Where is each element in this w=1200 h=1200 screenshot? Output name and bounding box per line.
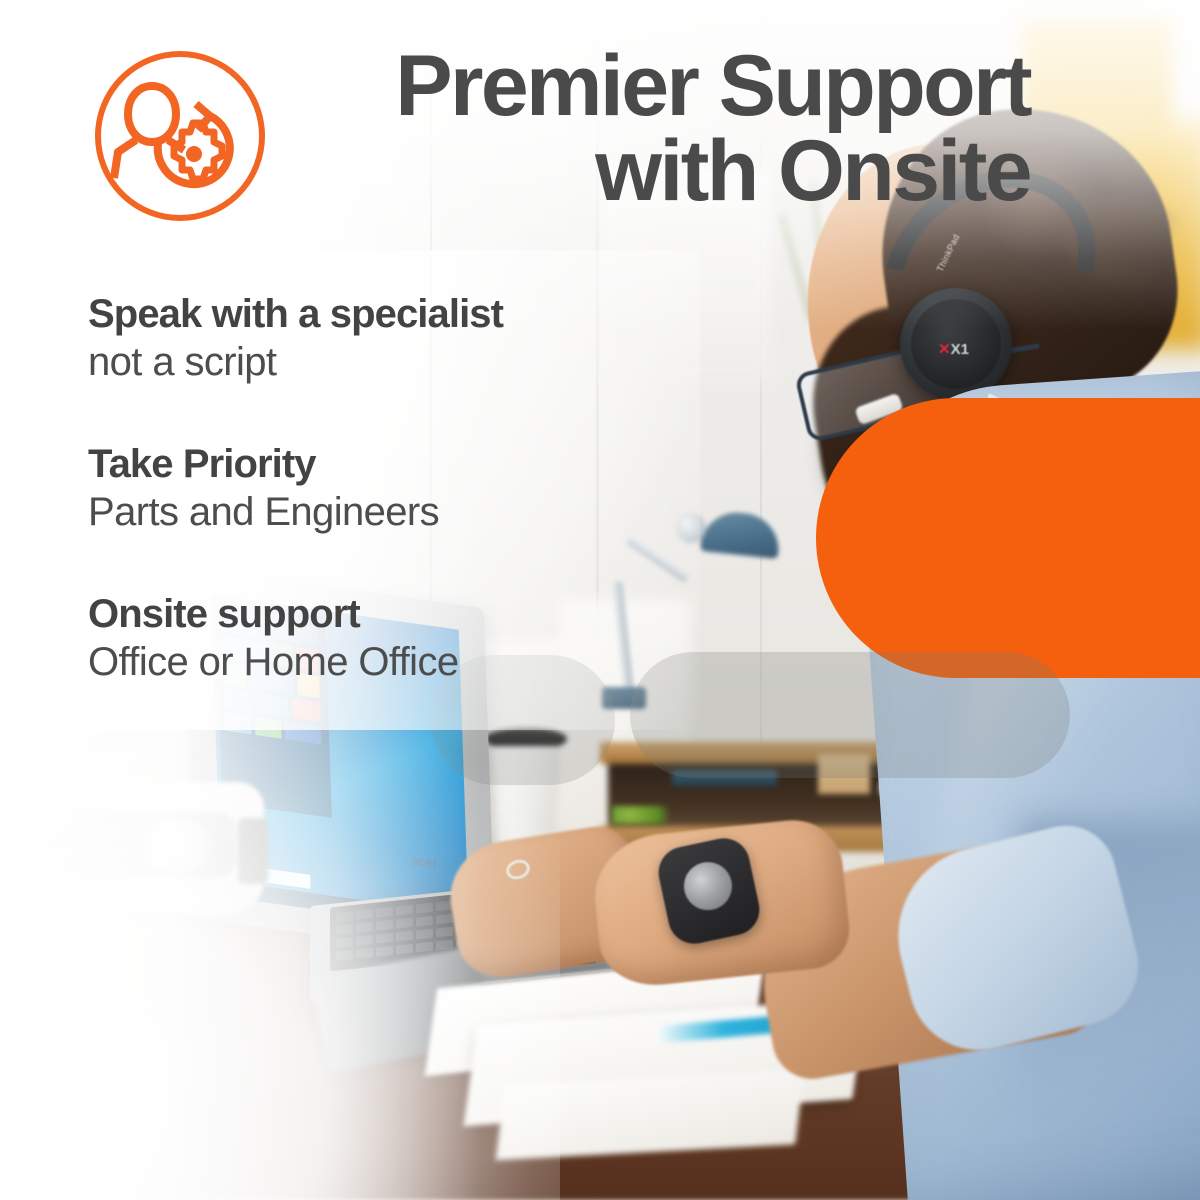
feature-title: Onsite support — [88, 592, 728, 637]
feature-list: Speak with a specialist not a script Tak… — [88, 292, 728, 686]
feature-subtitle: not a script — [88, 339, 728, 386]
feature-title: Take Priority — [88, 442, 728, 487]
premier-support-person-gear-refresh-icon — [92, 48, 268, 224]
feature-subtitle: Office or Home Office — [88, 639, 728, 686]
feature-item-onsite-support: Onsite support Office or Home Office — [88, 592, 728, 686]
premier-support-promo-poster: acer — [0, 0, 1200, 1200]
feature-item-take-priority: Take Priority Parts and Engineers — [88, 442, 728, 536]
feature-subtitle: Parts and Engineers — [88, 489, 728, 536]
page-title: Premier Support with Onsite — [290, 42, 1030, 214]
poster-header: Premier Support with Onsite — [0, 0, 1030, 224]
feature-title: Speak with a specialist — [88, 292, 728, 337]
poster-content: Premier Support with Onsite Speak with a… — [0, 0, 1200, 1200]
feature-item-speak-with-specialist: Speak with a specialist not a script — [88, 292, 728, 386]
